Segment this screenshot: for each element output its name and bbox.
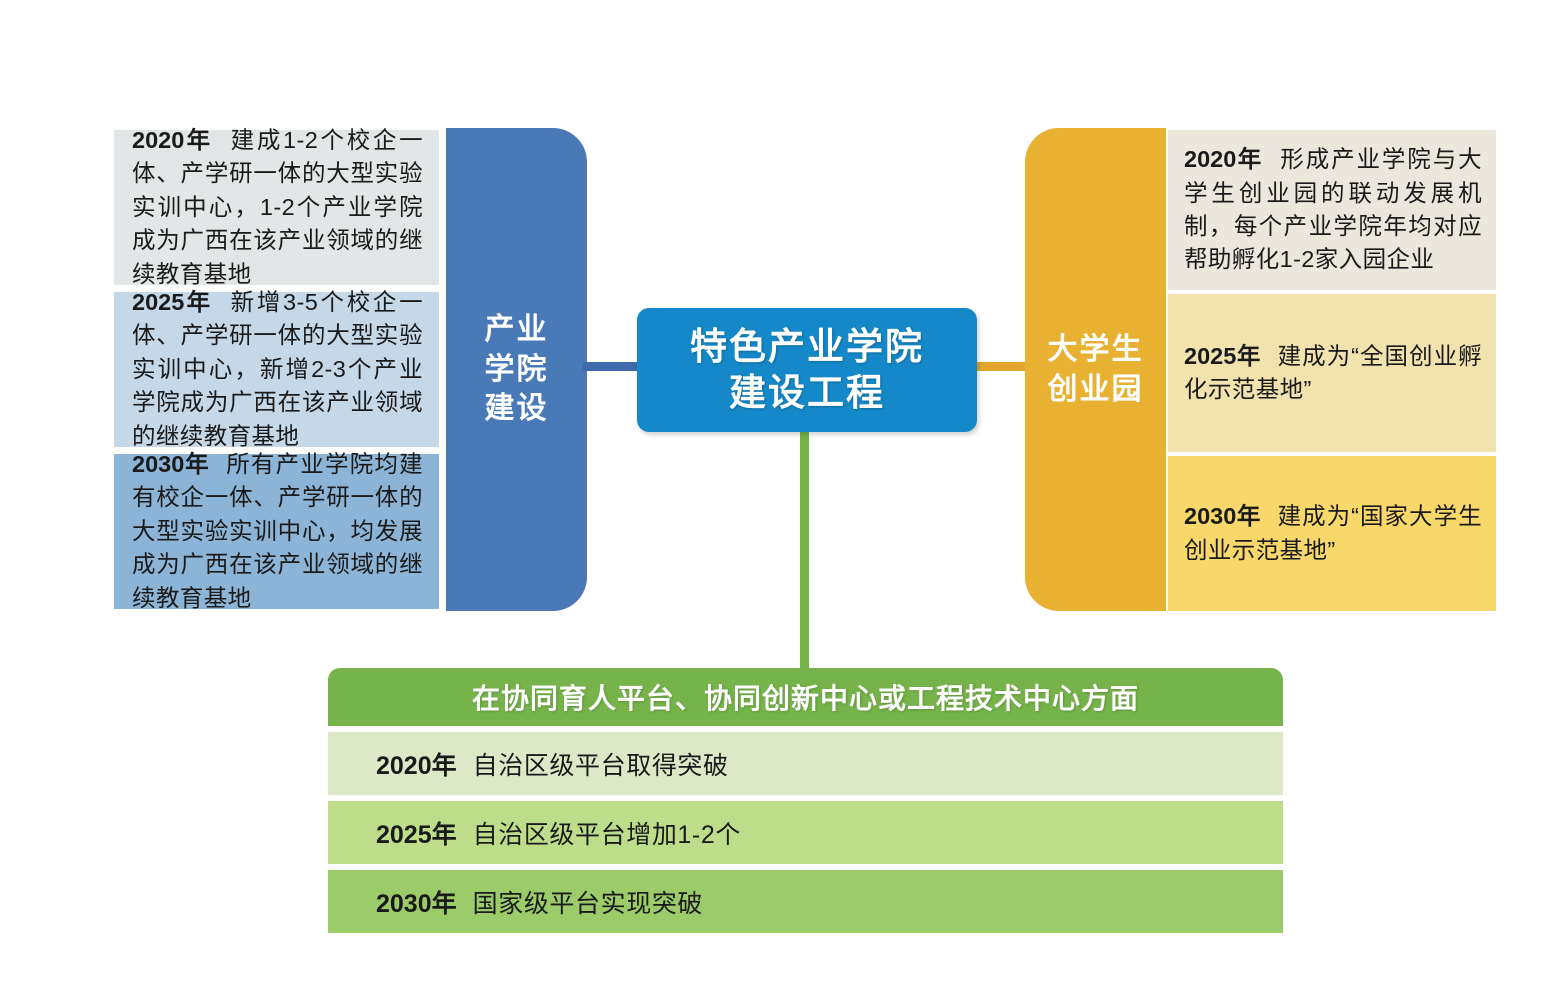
bottom-row-2020-year: 2020年 (376, 752, 457, 780)
left-card-2020-year: 2020年 (132, 127, 212, 153)
right-card-2030-content: 2030年建成为“国家大学生创业示范基地” (1184, 500, 1482, 567)
bottom-row-2030-year: 2030年 (376, 890, 457, 918)
diagram-canvas: 2020年建成1-2个校企一体、产学研一体的大型实验实训中心，1-2个产业学院成… (0, 0, 1559, 985)
right-card-2025-content: 2025年建成为“全国创业孵化示范基地” (1184, 340, 1482, 407)
center-title-box: 特色产业学院 建设工程 (637, 308, 977, 432)
bottom-row-2025: 2025年自治区级平台增加1-2个 (328, 801, 1283, 864)
connector-right (973, 362, 1031, 371)
bottom-row-2020-text: 自治区级平台取得突破 (473, 752, 729, 780)
left-card-2030: 2030年所有产业学院均建有校企一体、产学研一体的大型实验实训中心，均发展成为广… (114, 454, 439, 609)
left-card-2020-content: 2020年建成1-2个校企一体、产学研一体的大型实验实训中心，1-2个产业学院成… (132, 124, 423, 291)
left-branch-spine: 产业 学院 建设 (446, 128, 587, 611)
right-branch-spine: 大学生 创业园 (1025, 128, 1166, 611)
right-card-2020-content: 2020年形成产业学院与大学生创业园的联动发展机制，每个产业学院年均对应帮助孵化… (1184, 143, 1482, 276)
left-card-2025: 2025年新增3-5个校企一体、产学研一体的大型实验实训中心，新增2-3个产业学… (114, 292, 439, 447)
bottom-row-2025-content: 2025年自治区级平台增加1-2个 (376, 815, 741, 851)
center-title-label: 特色产业学院 建设工程 (690, 324, 924, 416)
connector-left (583, 362, 641, 371)
bottom-branch-header: 在协同育人平台、协同创新中心或工程技术中心方面 (328, 668, 1283, 726)
left-card-2020: 2020年建成1-2个校企一体、产学研一体的大型实验实训中心，1-2个产业学院成… (114, 130, 439, 285)
left-card-2030-year: 2030年 (132, 451, 209, 477)
bottom-row-2025-text: 自治区级平台增加1-2个 (473, 821, 741, 849)
connector-down (800, 430, 809, 668)
right-card-2030-year: 2030年 (1184, 503, 1261, 529)
right-branch-spine-label: 大学生 创业园 (1048, 330, 1144, 409)
bottom-row-2030-text: 国家级平台实现突破 (473, 890, 703, 918)
left-branch-spine-label: 产业 学院 建设 (485, 310, 549, 429)
bottom-row-2020-content: 2020年自治区级平台取得突破 (376, 746, 729, 782)
bottom-row-2025-year: 2025年 (376, 821, 457, 849)
right-card-2025: 2025年建成为“全国创业孵化示范基地” (1168, 294, 1496, 452)
left-card-2025-year: 2025年 (132, 289, 212, 315)
left-card-2025-content: 2025年新增3-5个校企一体、产学研一体的大型实验实训中心，新增2-3个产业学… (132, 286, 423, 453)
left-card-2030-content: 2030年所有产业学院均建有校企一体、产学研一体的大型实验实训中心，均发展成为广… (132, 448, 423, 615)
bottom-row-2030-content: 2030年国家级平台实现突破 (376, 884, 703, 920)
right-card-2030: 2030年建成为“国家大学生创业示范基地” (1168, 456, 1496, 611)
right-card-2020-year: 2020年 (1184, 146, 1263, 172)
right-card-2020: 2020年形成产业学院与大学生创业园的联动发展机制，每个产业学院年均对应帮助孵化… (1168, 130, 1496, 290)
right-card-2025-year: 2025年 (1184, 343, 1261, 369)
bottom-branch-header-label: 在协同育人平台、协同创新中心或工程技术中心方面 (472, 677, 1139, 717)
bottom-row-2030: 2030年国家级平台实现突破 (328, 870, 1283, 933)
bottom-row-2020: 2020年自治区级平台取得突破 (328, 732, 1283, 795)
